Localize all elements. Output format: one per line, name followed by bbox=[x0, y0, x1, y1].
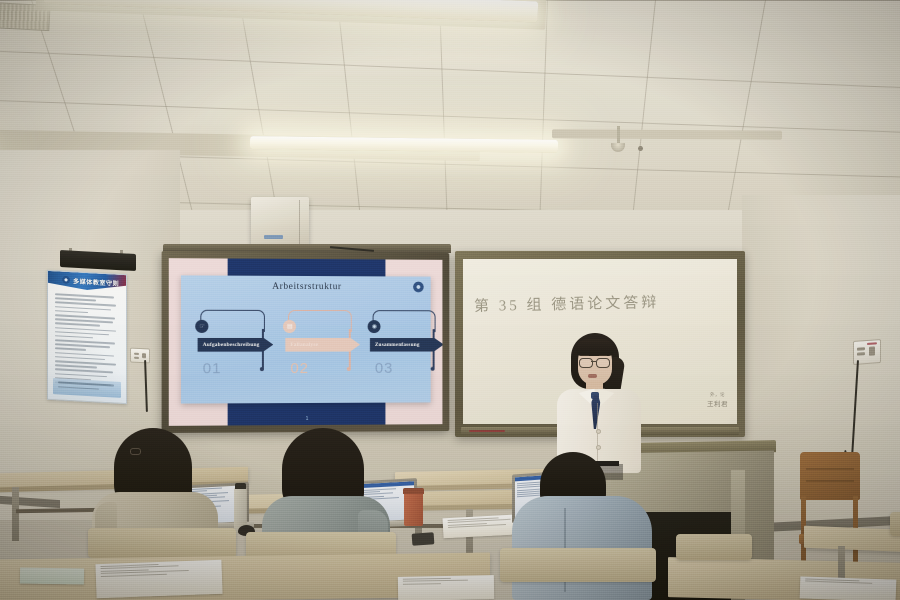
step-label: Zusammenfassung bbox=[375, 342, 420, 348]
eyeglasses-icon bbox=[596, 358, 610, 368]
air-conditioner-unit bbox=[251, 197, 309, 251]
display-panel: Arbeitsrstruktur ☞ Aufgabenbeschreibung … bbox=[169, 258, 443, 426]
step-connector bbox=[201, 309, 266, 331]
step-dot bbox=[260, 367, 264, 371]
paper-stack[interactable] bbox=[95, 560, 222, 598]
step-number: 01 bbox=[203, 360, 222, 377]
step-label-tag: Aufgabenbeschreibung bbox=[198, 338, 274, 352]
step-dot bbox=[347, 367, 351, 371]
mobile-phone[interactable] bbox=[412, 532, 435, 546]
presenter-bangs bbox=[576, 339, 614, 356]
step-label-tag: Zusammenfassung bbox=[370, 338, 442, 352]
presentation-display[interactable]: Arbeitsrstruktur ☞ Aufgabenbeschreibung … bbox=[162, 251, 450, 433]
whiteboard-signature: 外，论 王利君 bbox=[707, 392, 728, 408]
coffee-cup[interactable] bbox=[404, 492, 423, 526]
whiteboard-heading: 第 35 组 德语论文答辩 bbox=[474, 291, 660, 316]
slide-title: Arbeitsrstruktur bbox=[181, 281, 430, 292]
step-label-tag: Fallanalyse bbox=[285, 338, 360, 352]
presenter-mouth bbox=[588, 374, 597, 378]
sprinkler-head bbox=[611, 143, 625, 152]
poster-title: 多媒体教室守则 bbox=[73, 276, 119, 288]
presentation-slide: Arbeitsrstruktur ☞ Aufgabenbeschreibung … bbox=[169, 258, 443, 426]
pointer-icon: ☞ bbox=[196, 319, 209, 332]
poster-footer-band bbox=[53, 378, 121, 398]
marker-red[interactable] bbox=[469, 430, 505, 433]
paper-stack[interactable] bbox=[398, 575, 494, 600]
step-connector bbox=[288, 310, 352, 332]
paper-stack[interactable] bbox=[20, 567, 84, 584]
chair-back[interactable] bbox=[500, 548, 656, 582]
poster-body-text bbox=[55, 293, 119, 389]
power-outlet-panel[interactable] bbox=[130, 347, 150, 363]
classroom-rules-poster: 多媒体教室守则 bbox=[47, 270, 127, 404]
step-number: 03 bbox=[375, 359, 393, 376]
step-label: Aufgabenbeschreibung bbox=[203, 342, 260, 348]
desk-row-front bbox=[804, 526, 900, 553]
chair-back[interactable] bbox=[890, 512, 900, 536]
step-number: 02 bbox=[290, 360, 309, 377]
step-label: Fallanalyse bbox=[290, 342, 318, 348]
slide-step-02: ▤ Fallanalyse 02 bbox=[283, 310, 359, 372]
university-seal-icon bbox=[413, 281, 424, 292]
chair-back[interactable] bbox=[88, 528, 236, 558]
sprinkler-pipe bbox=[617, 126, 620, 144]
target-icon: ◉ bbox=[368, 320, 381, 333]
chair-back[interactable] bbox=[676, 534, 752, 560]
university-seal-icon bbox=[62, 276, 70, 284]
step-connector bbox=[373, 310, 436, 332]
whiteboard-signature-bottom: 王利君 bbox=[707, 398, 728, 408]
classroom-photo: 多媒体教室守则 bbox=[0, 0, 900, 600]
slide-step-01: ☞ Aufgabenbeschreibung 01 bbox=[196, 309, 273, 372]
slide-content-card: Arbeitsrstruktur ☞ Aufgabenbeschreibung … bbox=[181, 275, 430, 404]
slide-step-03: ◉ Zusammenfassung 03 bbox=[368, 310, 442, 372]
eyeglasses-icon bbox=[579, 358, 593, 368]
step-dot bbox=[431, 366, 435, 370]
chart-icon: ▤ bbox=[283, 320, 296, 333]
paper-stack[interactable] bbox=[800, 576, 897, 600]
